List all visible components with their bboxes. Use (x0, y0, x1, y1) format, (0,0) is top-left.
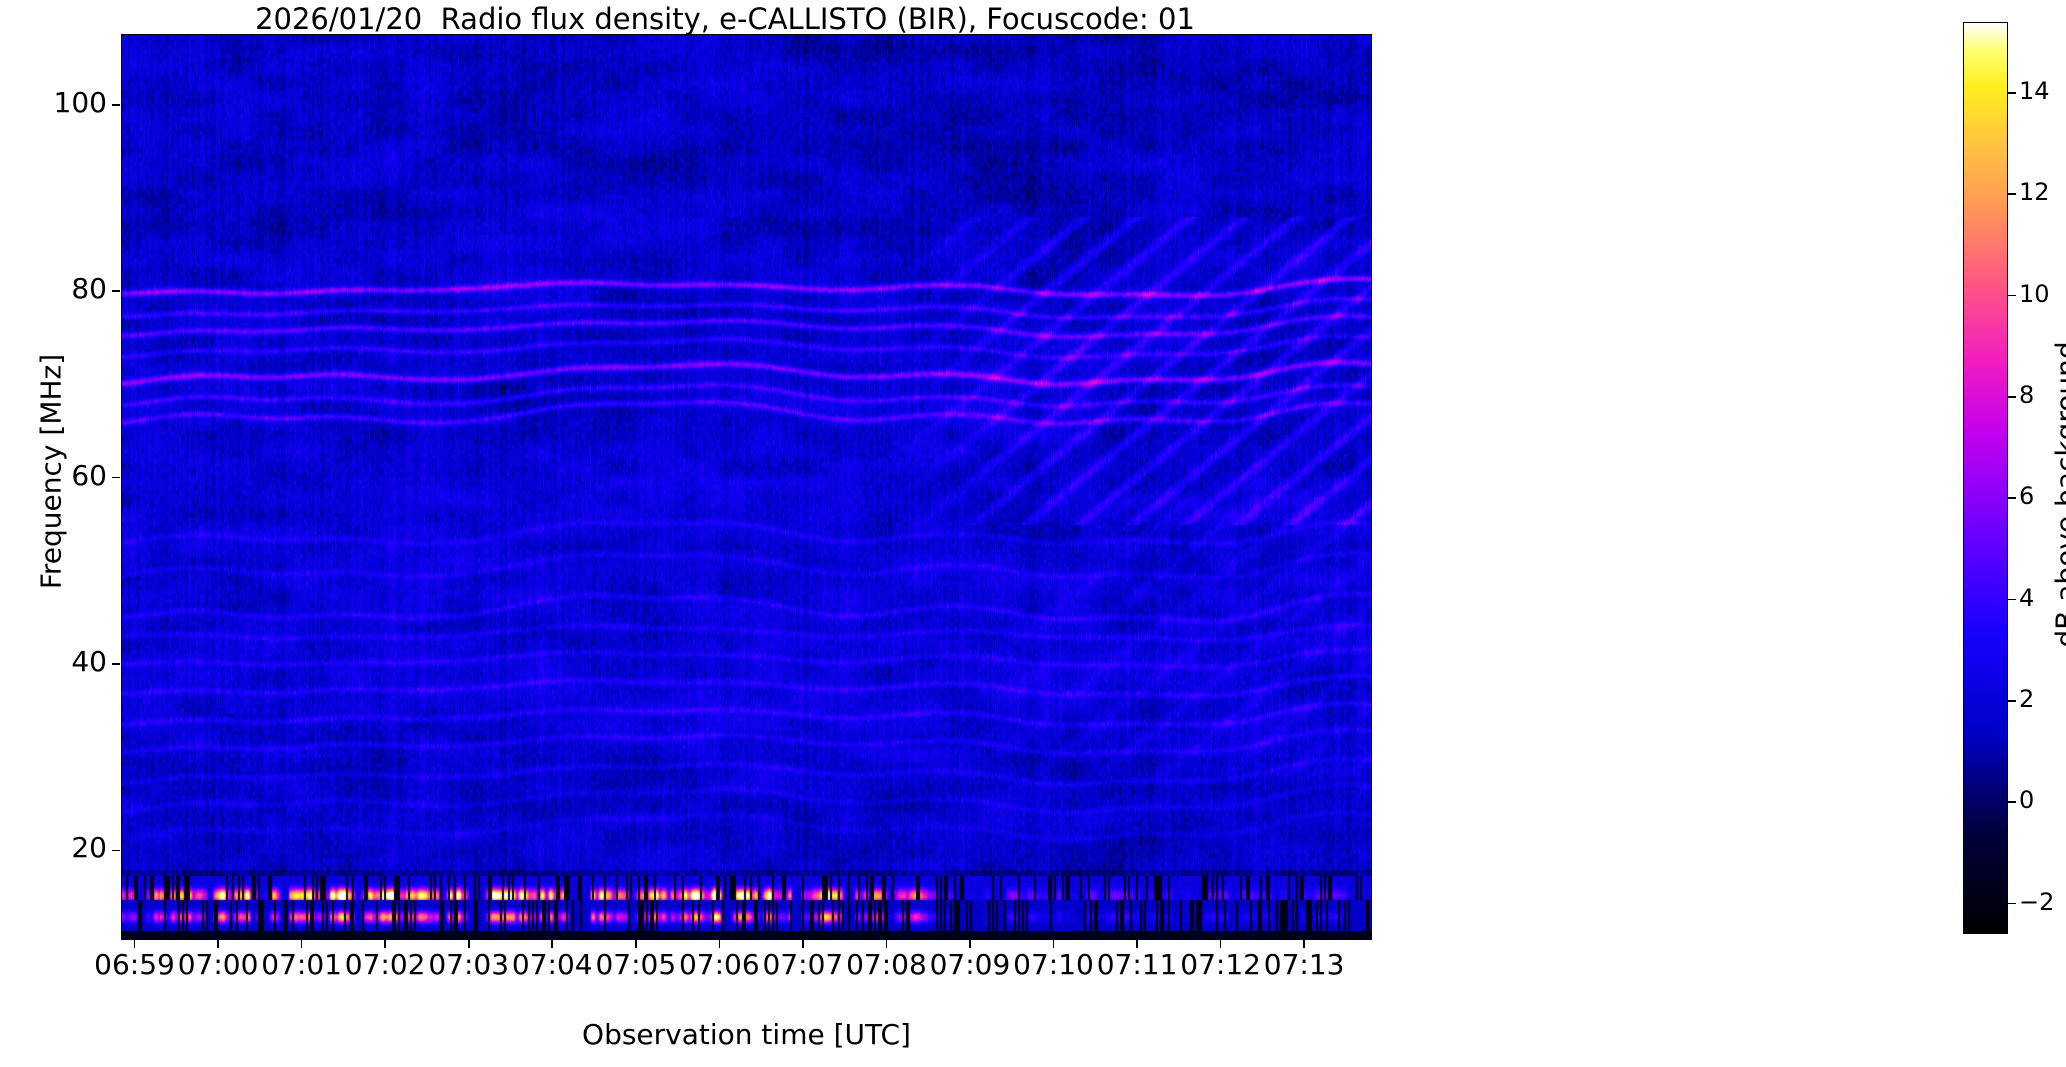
y-tick-mark (112, 290, 120, 292)
colorbar-tick-mark (2008, 801, 2016, 803)
y-tick-label: 100 (54, 86, 107, 119)
y-tick-mark (112, 104, 120, 106)
x-tick-mark (1220, 940, 1222, 948)
y-tick-mark (112, 663, 120, 665)
x-tick-mark (134, 940, 136, 948)
spectrogram-axes[interactable] (121, 34, 1372, 940)
colorbar-tick-mark (2008, 599, 2016, 601)
colorbar[interactable] (1963, 22, 2008, 934)
y-tick-label: 60 (71, 459, 107, 492)
colorbar-tick-mark (2008, 92, 2016, 94)
spectrogram-image (122, 35, 1371, 939)
x-tick-mark (1053, 940, 1055, 948)
colorbar-tick-mark (2008, 193, 2016, 195)
colorbar-label: dB above background (2050, 245, 2066, 745)
x-tick-mark (1136, 940, 1138, 948)
y-tick-label: 20 (71, 831, 107, 864)
colorbar-tick-label: 6 (2019, 482, 2034, 510)
colorbar-tick-mark (2008, 497, 2016, 499)
y-tick-label: 80 (71, 272, 107, 305)
x-tick-mark (384, 940, 386, 948)
colorbar-tick-label: −2 (2019, 888, 2054, 916)
x-axis-label: Observation time [UTC] (121, 1018, 1372, 1051)
colorbar-tick-mark (2008, 700, 2016, 702)
x-tick-mark (1303, 940, 1305, 948)
figure-canvas: 2026/01/20 Radio flux density, e-CALLIST… (0, 0, 2066, 1067)
x-tick-mark (635, 940, 637, 948)
x-tick-mark (301, 940, 303, 948)
y-tick-label: 40 (71, 645, 107, 678)
x-tick-mark (468, 940, 470, 948)
x-tick-mark (719, 940, 721, 948)
x-tick-mark (551, 940, 553, 948)
colorbar-tick-mark (2008, 903, 2016, 905)
x-tick-label: 07:13 (1244, 948, 1364, 981)
colorbar-tick-label: 14 (2019, 77, 2050, 105)
x-tick-mark (217, 940, 219, 948)
colorbar-tick-label: 2 (2019, 685, 2034, 713)
colorbar-tick-mark (2008, 295, 2016, 297)
colorbar-tick-label: 0 (2019, 786, 2034, 814)
colorbar-tick-label: 4 (2019, 584, 2034, 612)
colorbar-tick-label: 12 (2019, 178, 2050, 206)
colorbar-tick-label: 8 (2019, 381, 2034, 409)
colorbar-gradient (1964, 23, 2007, 933)
colorbar-tick-label: 10 (2019, 280, 2050, 308)
y-axis-label: Frequency [MHz] (35, 222, 68, 722)
x-tick-mark (969, 940, 971, 948)
y-tick-mark (112, 477, 120, 479)
x-tick-mark (886, 940, 888, 948)
y-tick-mark (112, 850, 120, 852)
colorbar-tick-mark (2008, 396, 2016, 398)
page-title: 2026/01/20 Radio flux density, e-CALLIST… (0, 2, 1450, 36)
x-tick-mark (802, 940, 804, 948)
